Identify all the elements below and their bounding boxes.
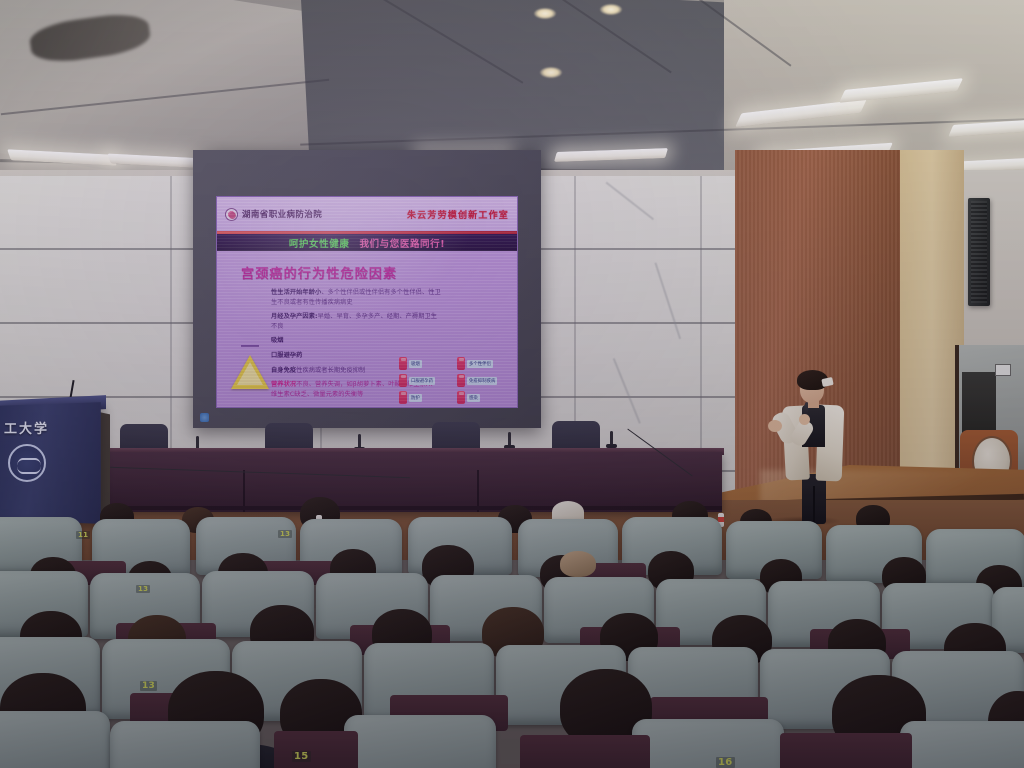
risk-icon-cell: 口服避孕药 [399, 374, 453, 387]
wall-speaker-icon [968, 198, 990, 306]
risk-icon-cell: 防护 [399, 391, 453, 404]
bullet-highlight: 营养状况 [271, 381, 296, 388]
presenter-hand-left [768, 420, 782, 432]
bullet-highlight: 自身免疫 [271, 367, 296, 374]
auditorium-seat [632, 719, 784, 768]
risk-icon-cell: 感染 [457, 391, 511, 404]
seat-number: 13 [136, 585, 150, 593]
immune-person-icon [457, 374, 465, 387]
seat-number: 16 [716, 757, 735, 768]
risk-icon-label: 吸烟 [409, 360, 422, 368]
slide-header: 湖南省职业病防治院 朱云芳劳模创新工作室 [217, 197, 517, 231]
institute-seal-icon [225, 208, 238, 221]
banner-right-text: 我们与您医路同行! [359, 236, 445, 250]
risk-icon-label: 免疫抑制疾病 [467, 377, 497, 385]
projector-logo-icon [200, 413, 209, 422]
risk-icon-grid: 吸烟 多个性伴侣 口服避孕药 免疫抑制疾病 [399, 357, 511, 404]
bullet-item: 吸烟 [271, 336, 441, 346]
seat-back-panel [780, 733, 912, 768]
bullet-dash [241, 345, 259, 347]
projection-screen[interactable]: 湖南省职业病防治院 朱云芳劳模创新工作室 呵护女性健康 我们与您医路同行! 宫颈… [193, 150, 541, 428]
risk-icon-cell: 多个性伴侣 [457, 357, 511, 370]
recessed-downlight-icon [540, 67, 562, 78]
person-pink-icon [457, 357, 465, 370]
seat-number: 15 [292, 751, 311, 762]
seat-number: 13 [278, 530, 292, 538]
seat-number: 11 [76, 531, 90, 539]
risk-icon-label: 口服避孕药 [409, 377, 435, 385]
bullet-highlight: 吸烟 [271, 337, 284, 344]
seat-back-panel [274, 731, 358, 768]
egg-cell-icon [457, 391, 465, 404]
audience-head [560, 551, 596, 577]
risk-icon-cell: 吸烟 [399, 357, 453, 370]
university-crest-icon [8, 444, 46, 482]
risk-icon-label: 多个性伴侣 [467, 360, 493, 368]
bullet-item: 性生活开始年龄小、多个性伴侣或性伴侣有多个性伴侣、性卫生不良或者有性传播疾病病史 [271, 288, 441, 307]
bullet-highlight: 口服避孕药 [271, 352, 302, 359]
slide-body: 宫颈癌的行为性危险因素 性生活开始年龄小、多个性伴侣或性伴侣有多个性伴侣、性卫生… [217, 251, 517, 407]
seat-back-panel [520, 735, 650, 768]
warning-triangle-inner [237, 362, 263, 385]
bullet-highlight: 月经及孕产因素: [271, 313, 318, 320]
wall-sign-icon [995, 364, 1011, 376]
person-red-icon [399, 357, 407, 370]
auditorium-seat [110, 721, 260, 768]
auditorium-seat [344, 715, 496, 768]
slide-title: 宫颈癌的行为性危险因素 [241, 263, 509, 282]
seat-number: 13 [140, 681, 157, 691]
hair-clip-icon [821, 377, 833, 387]
lecture-hall-scene: 湖南省职业病防治院 朱云芳劳模创新工作室 呵护女性健康 我们与您医路同行! 宫颈… [0, 0, 1024, 768]
risk-icon-label: 防护 [409, 394, 422, 402]
auditorium-seat [0, 711, 110, 768]
risk-icon-cell: 免疫抑制疾病 [457, 374, 511, 387]
bullet-text: 性疾病或者长期免疫抑制 [296, 367, 365, 374]
syringe-icon [399, 391, 407, 404]
pill-pack-icon [399, 374, 407, 387]
recessed-downlight-icon [534, 8, 556, 19]
studio-name: 朱云芳劳模创新工作室 [407, 208, 509, 221]
bullet-highlight: 性生活开始年龄小 [271, 289, 321, 296]
bullet-item: 月经及孕产因素:早婚、早育、多孕多产、经期、产褥期卫生不良 [271, 312, 441, 331]
projected-slide: 湖南省职业病防治院 朱云芳劳模创新工作室 呵护女性健康 我们与您医路同行! 宫颈… [216, 196, 518, 408]
presenter-hand-right [799, 414, 810, 425]
audience-area: 11 13 13 16 [0, 495, 1024, 768]
organization-name: 湖南省职业病防治院 [242, 208, 322, 220]
auditorium-seat [900, 721, 1024, 768]
slide-banner: 呵护女性健康 我们与您医路同行! [217, 234, 517, 251]
recessed-downlight-icon [600, 4, 622, 15]
banner-left-text: 呵护女性健康 [289, 236, 350, 250]
podium-label: 工大学 [4, 418, 49, 437]
table-microphone [508, 432, 511, 448]
risk-icon-label: 感染 [467, 394, 480, 402]
table-microphone [610, 431, 613, 447]
organization-block: 湖南省职业病防治院 [225, 208, 322, 221]
